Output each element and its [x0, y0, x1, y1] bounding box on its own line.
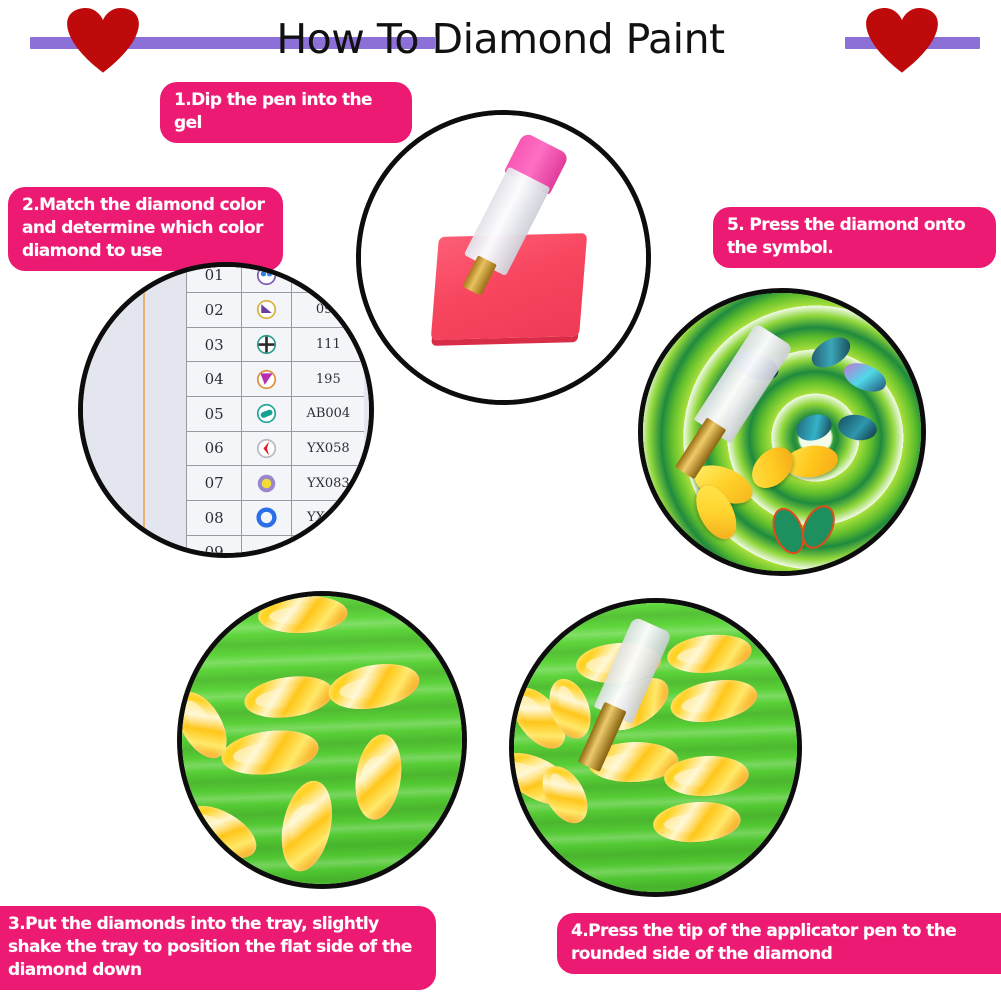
diamond-gem — [793, 410, 835, 445]
chart-code: YX125 — [292, 536, 364, 558]
chart-number: 07 — [187, 466, 242, 500]
table-row: 05 AB004 — [187, 397, 364, 432]
chart-code: 028 — [292, 262, 364, 292]
diamond-tray — [182, 596, 462, 884]
chart-code: YX106 — [292, 501, 364, 535]
chart-code: YX083 — [292, 466, 364, 500]
color-chart-table: 01 028 02 093 03 111 — [186, 262, 364, 558]
chart-code: 093 — [292, 293, 364, 327]
triangle-magenta-icon — [242, 362, 292, 396]
eyes-circle-icon — [242, 262, 292, 292]
table-row: 06 YX058 — [187, 432, 364, 467]
chart-number: 05 — [187, 397, 242, 431]
step-label-4: 4.Press the tip of the applicator pen to… — [557, 913, 1001, 974]
photo-circle-step1 — [356, 110, 651, 405]
chart-number: 04 — [187, 362, 242, 396]
chart-code: 195 — [292, 362, 364, 396]
table-row: 07 YX083 — [187, 466, 364, 501]
triangle-right-icon — [242, 293, 292, 327]
chart-code: 111 — [292, 328, 364, 362]
table-row: 09 YX125 — [187, 536, 364, 558]
step-label-3: 3.Put the diamonds into the tray, slight… — [0, 906, 436, 990]
ring-blue-icon — [242, 501, 292, 535]
step-label-5: 5. Press the diamond onto the symbol. — [713, 207, 996, 268]
gel-scene — [361, 115, 646, 400]
diamond-gem — [177, 795, 265, 869]
table-row: 02 093 — [187, 293, 364, 328]
photo-circle-step3 — [177, 591, 467, 889]
chart-number: 02 — [187, 293, 242, 327]
donut-yellow-icon — [242, 466, 292, 500]
table-row: 03 111 — [187, 328, 364, 363]
diamond-gem — [667, 674, 760, 729]
photo-circle-step4 — [509, 598, 802, 897]
diamond-gem — [651, 799, 741, 845]
diamond-gem — [836, 412, 879, 443]
chart-number: 09 — [187, 536, 242, 558]
diamond-gem — [350, 732, 406, 824]
table-row: 04 195 — [187, 362, 364, 397]
page-header: How To Diamond Paint — [0, 0, 1001, 76]
plus-circle-icon — [242, 328, 292, 362]
photo-circle-step2: 01 028 02 093 03 111 — [78, 262, 374, 558]
photo-circle-step5 — [638, 288, 926, 576]
capsule-teal-icon — [242, 397, 292, 431]
diamond-tray — [514, 603, 797, 892]
chart-code: AB004 — [292, 397, 364, 431]
diamond-gem — [840, 358, 891, 398]
page-title: How To Diamond Paint — [0, 10, 1001, 68]
diamond-gem — [219, 726, 322, 781]
diamond-gem — [325, 657, 423, 716]
step-label-2: 2.Match the diamond color and determine … — [8, 187, 283, 271]
diamond-gem — [665, 630, 753, 676]
chart-number: 06 — [187, 432, 242, 466]
mandala-canvas — [643, 293, 921, 571]
chart-number: 08 — [187, 501, 242, 535]
table-row: 08 YX106 — [187, 501, 364, 536]
diamond-gem — [241, 671, 335, 723]
chart-number: 03 — [187, 328, 242, 362]
table-row: 01 028 — [187, 262, 364, 293]
chevron-red-icon — [242, 432, 292, 466]
diamond-gem — [274, 776, 340, 876]
diamond-gem — [257, 594, 348, 636]
chart-number: 01 — [187, 262, 242, 292]
color-chart-sheet: 01 028 02 093 03 111 — [83, 267, 369, 553]
chart-code: YX058 — [292, 432, 364, 466]
leaf-green-icon — [242, 536, 292, 558]
